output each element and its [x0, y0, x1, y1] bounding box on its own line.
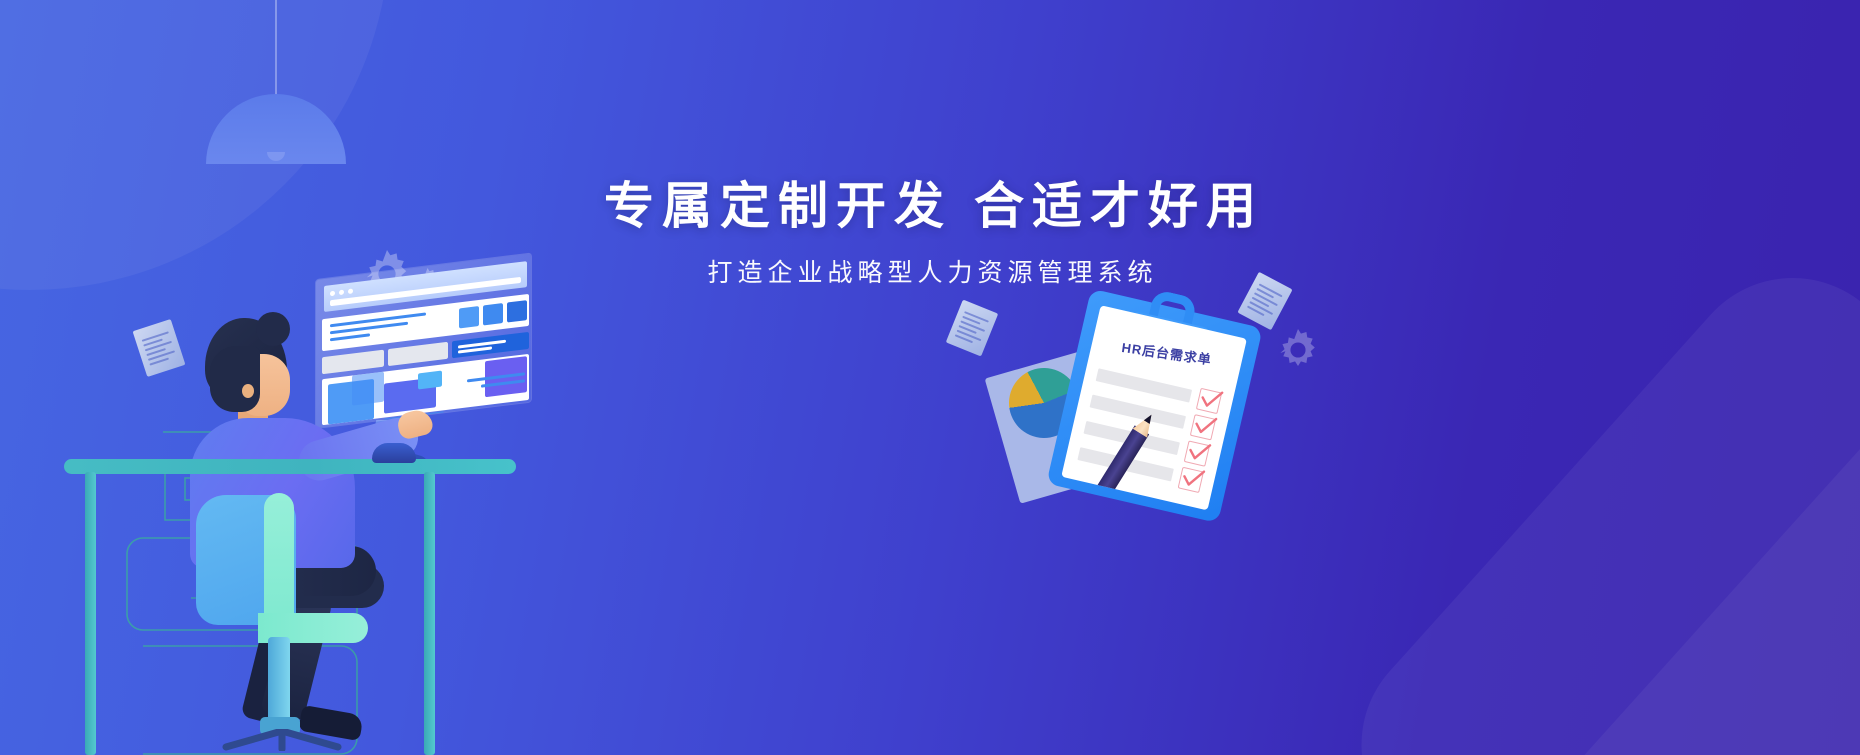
window-dot-icon	[348, 288, 353, 294]
person-ear	[242, 384, 254, 398]
tile-icon	[507, 300, 527, 322]
checkbox-checked[interactable]	[1178, 467, 1204, 493]
tile-icon	[418, 371, 442, 390]
desk-leg	[424, 472, 435, 755]
banner-copy: 专属定制开发 合适才好用 打造企业战略型人力资源管理系统	[0, 176, 1860, 289]
lamp-cord	[275, 0, 277, 98]
checklist-row	[1096, 368, 1192, 402]
person-hair-bun	[256, 312, 290, 346]
hero-banner: 专属定制开发 合适才好用 打造企业战略型人力资源管理系统 HR后台需求单	[0, 0, 1860, 755]
window-dot-icon	[339, 290, 344, 296]
page-subtitle: 打造企业战略型人力资源管理系统	[0, 253, 1860, 289]
clipboard-title: HR后台需求单	[1091, 333, 1242, 373]
document-icon	[133, 319, 186, 377]
person-hair-front	[210, 346, 260, 412]
tile-icon	[459, 306, 479, 328]
desk-leg	[85, 472, 96, 755]
document-icon	[946, 300, 998, 357]
pendant-lamp	[206, 0, 346, 154]
computer-mouse	[372, 443, 416, 463]
office-desk	[64, 459, 516, 755]
tile-icon	[483, 303, 503, 325]
window-dot-icon	[330, 291, 335, 297]
desk-surface	[64, 459, 516, 474]
